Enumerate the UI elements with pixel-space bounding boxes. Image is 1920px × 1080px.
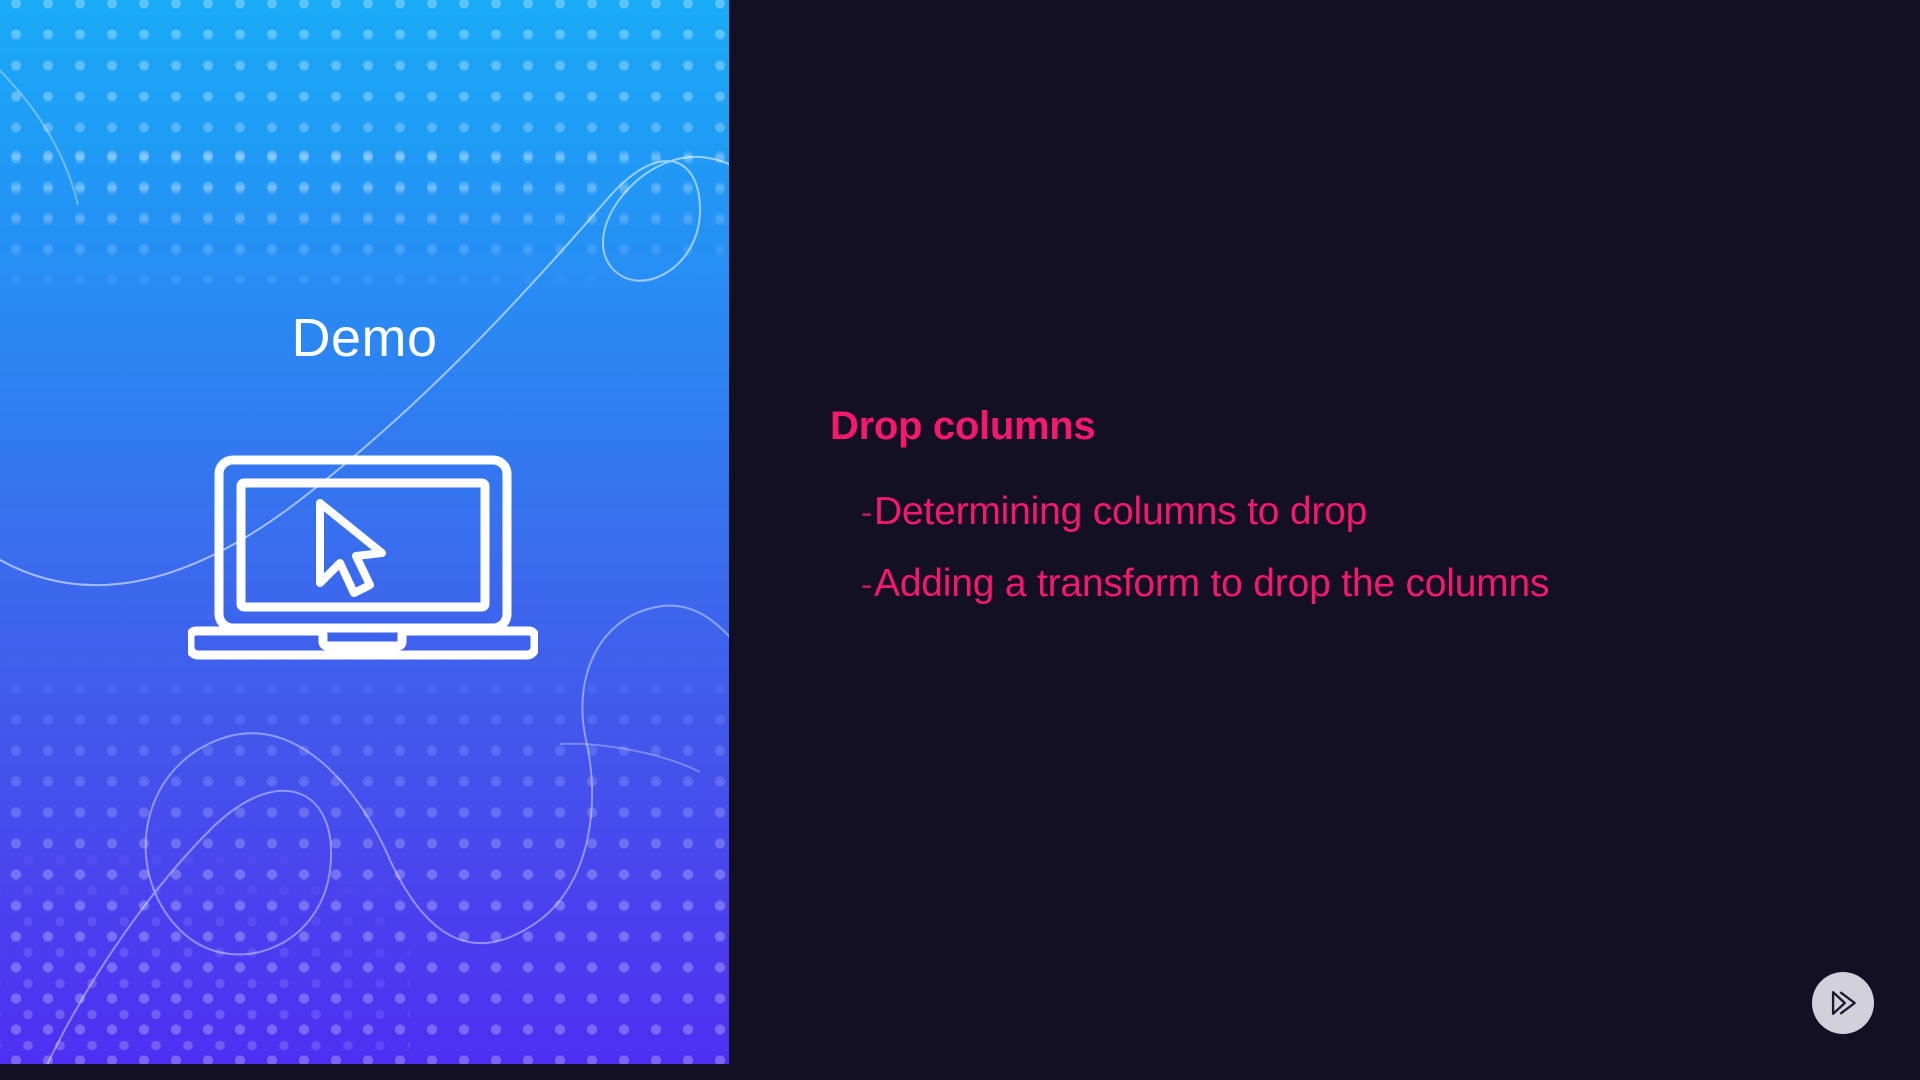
presentation-slide: Demo Drop columns - Determining columns … bbox=[0, 0, 1920, 1080]
demo-title: Demo bbox=[0, 311, 729, 365]
panel-bottom-edge bbox=[0, 1064, 729, 1072]
bullet-dash-marker: - bbox=[830, 496, 874, 530]
bullet-text: Determining columns to drop bbox=[874, 492, 1367, 533]
bullet-dash-marker: - bbox=[830, 568, 874, 602]
list-item: - Determining columns to drop bbox=[830, 492, 1880, 533]
list-item: - Adding a transform to drop the columns bbox=[830, 564, 1880, 605]
left-visual-panel: Demo bbox=[0, 0, 729, 1072]
halftone-dots-bottom-decoration bbox=[0, 642, 729, 1072]
bullet-text: Adding a transform to drop the columns bbox=[874, 564, 1549, 605]
section-heading: Drop columns bbox=[830, 404, 1880, 449]
laptop-cursor-icon bbox=[188, 455, 538, 665]
right-content-panel: Drop columns - Determining columns to dr… bbox=[729, 0, 1920, 1080]
halftone-dots-top-decoration bbox=[0, 0, 729, 288]
halftone-dots-bottom-secondary-decoration bbox=[0, 782, 410, 1072]
content-block: Drop columns - Determining columns to dr… bbox=[830, 404, 1880, 636]
double-play-logo-icon[interactable] bbox=[1812, 972, 1874, 1034]
